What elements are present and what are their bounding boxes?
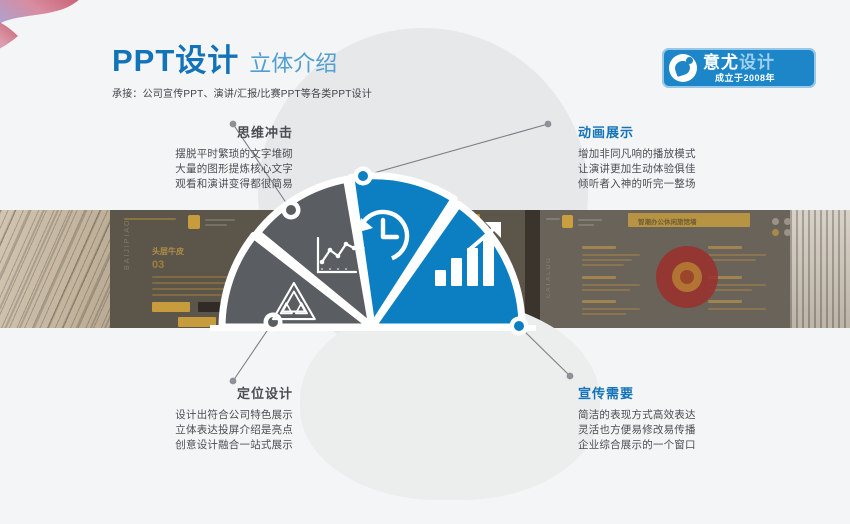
callout-top-right-line-3: 倾听者入神的听完一整场 <box>578 177 803 192</box>
callout-top-right-line-2: 让演讲更加生动体验俱佳 <box>578 162 803 177</box>
callout-top-left: 思维冲击 摆脱平时繁琐的文字堆砌 大量的图形提炼核心文字 观看和演讲变得都很简易 <box>78 122 293 193</box>
slide-canvas: 智潮办公休闲旅馆墙 头层牛皮 03 BAIJIPIAO <box>0 0 850 524</box>
node-top-left[interactable] <box>286 205 296 215</box>
callout-top-left-line-3: 观看和演讲变得都很简易 <box>78 177 293 192</box>
node-top-right[interactable] <box>358 171 368 181</box>
connector-top-right <box>363 124 548 176</box>
callout-top-right-heading: 动画展示 <box>578 122 803 141</box>
callout-top-left-line-1: 摆脱平时繁琐的文字堆砌 <box>78 147 293 162</box>
connector-bottom-right <box>519 326 570 376</box>
callout-bottom-left-line-2: 立体表达投屏介绍是亮点 <box>78 423 293 438</box>
callout-bottom-right: 宣传需要 简洁的表现方式高效表达 灵活也方便易修改易传播 企业综合展示的一个窗口 <box>578 383 803 454</box>
connector-dot-bottom-right <box>567 373 574 380</box>
callout-bottom-left-line-1: 设计出符合公司特色展示 <box>78 408 293 423</box>
callout-bottom-right-heading: 宣传需要 <box>578 383 803 402</box>
callout-top-right-line-1: 增加非同凡响的播放模式 <box>578 147 803 162</box>
callout-top-left-heading: 思维冲击 <box>78 122 293 141</box>
callout-bottom-right-line-1: 简洁的表现方式高效表达 <box>578 408 803 423</box>
connector-dot-top-right <box>545 121 552 128</box>
callout-top-left-line-2: 大量的图形提炼核心文字 <box>78 162 293 177</box>
callout-bottom-right-line-2: 灵活也方便易修改易传播 <box>578 423 803 438</box>
callout-bottom-left-heading: 定位设计 <box>78 383 293 402</box>
callout-bottom-left-line-3: 创意设计融合一站式展示 <box>78 438 293 453</box>
callout-top-right: 动画展示 增加非同凡响的播放模式 让演讲更加生动体验俱佳 倾听者入神的听完一整场 <box>578 122 803 193</box>
diagram-baseline <box>210 325 536 331</box>
node-bottom-right[interactable] <box>514 321 524 331</box>
callout-bottom-right-line-3: 企业综合展示的一个窗口 <box>578 438 803 453</box>
callout-bottom-left: 定位设计 设计出符合公司特色展示 立体表达投屏介绍是亮点 创意设计融合一站式展示 <box>78 383 293 454</box>
